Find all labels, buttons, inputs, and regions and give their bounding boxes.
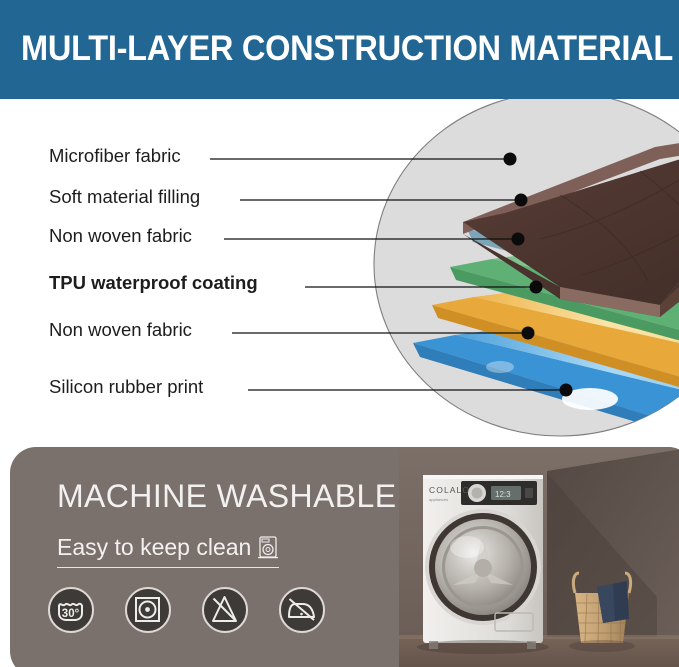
callout-label-non-woven-fabric-top: Non woven fabric [49,225,192,247]
washing-machine-brand: COLALO [429,485,470,495]
wash-temperature-label: 30° [62,608,80,620]
svg-text:12:3: 12:3 [495,490,511,499]
callout-dot-tpu [530,281,543,294]
callout-dot-soft-filling [515,194,528,207]
header-banner: MULTI-LAYER CONSTRUCTION MATERIAL [0,0,679,99]
callout-dot-microfiber [504,153,517,166]
svg-text:appliances: appliances [429,497,448,502]
care-symbols-row: 30° [48,587,325,633]
callout-label-soft-material-filling: Soft material filling [49,186,200,208]
tumble-dry-icon [125,587,171,633]
do-not-bleach-icon [202,587,248,633]
washing-machine-photo: 12:3 COLALO appliances [399,447,679,667]
callout-dot-silicon [560,384,573,397]
callout-label-microfiber-fabric: Microfiber fabric [49,145,181,167]
callout-dot-non-woven-top [512,233,525,246]
machine-washable-panel: 12:3 COLALO appliances [10,447,679,667]
do-not-iron-icon [279,587,325,633]
easy-clean-label: Easy to keep clean [57,534,251,561]
machine-washable-title: MACHINE WASHABLE [57,477,397,515]
callout-label-silicon-rubber-print: Silicon rubber print [49,376,203,398]
infographic-page: MULTI-LAYER CONSTRUCTION MATERIAL [0,0,679,667]
washing-machine-icon [257,535,279,559]
easy-clean-row: Easy to keep clean [57,530,279,568]
callout-label-tpu-waterproof-coating: TPU waterproof coating [49,272,258,294]
callout-label-non-woven-fabric-bottom: Non woven fabric [49,319,192,341]
wash-30-icon: 30° [48,587,94,633]
callout-dot-non-woven-bot [522,327,535,340]
layer-construction-section: Microfiber fabric Soft material filling … [0,99,679,441]
page-title: MULTI-LAYER CONSTRUCTION MATERIAL [21,27,621,71]
